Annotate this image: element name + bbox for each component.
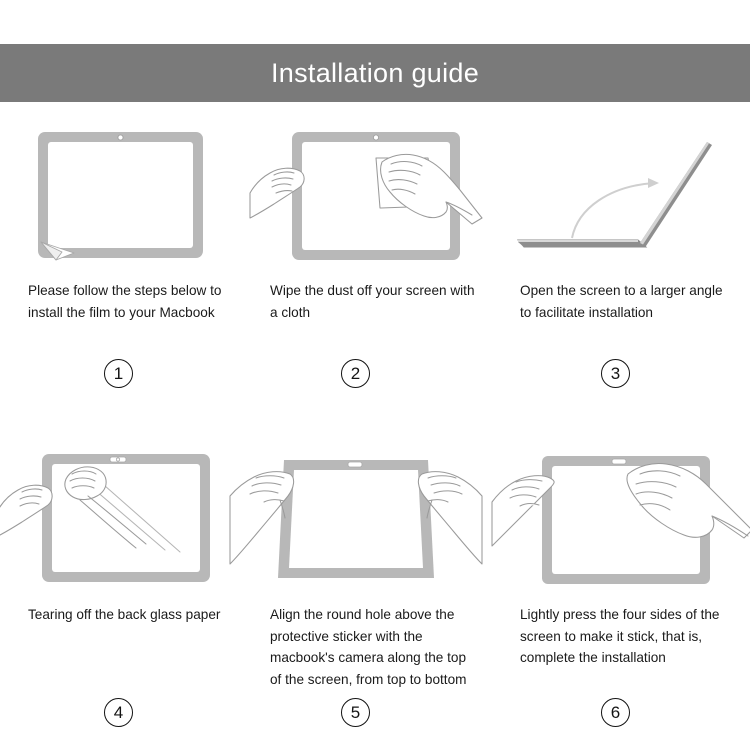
hand-wiping-screen-with-cloth-icon	[250, 132, 482, 260]
step-item-3: Open the screen to a larger angle to fac…	[500, 102, 750, 426]
step-4-number: 4	[104, 698, 133, 727]
step-1-caption: Please follow the steps below to install…	[0, 280, 250, 323]
step-1-number: 1	[104, 359, 133, 388]
hands-peeling-back-paper-icon	[0, 454, 210, 582]
step-1-illustration	[0, 120, 250, 270]
step-2-illustration	[250, 120, 500, 270]
step-item-2: Wipe the dust off your screen with a clo…	[250, 102, 500, 426]
step-3-illustration	[500, 120, 750, 270]
step-6-number: 6	[601, 698, 630, 727]
step-3-number: 3	[601, 359, 630, 388]
step-2-number: 2	[341, 359, 370, 388]
step-3-caption: Open the screen to a larger angle to fac…	[500, 280, 750, 323]
step-5-caption: Align the round hole above the protectiv…	[250, 604, 500, 690]
step-item-6: Lightly press the four sides of the scre…	[500, 426, 750, 750]
step-6-caption: Lightly press the four sides of the scre…	[500, 604, 750, 669]
step-5-illustration	[250, 444, 500, 594]
hand-pressing-screen-edges-icon	[492, 456, 750, 584]
step-4-illustration	[0, 444, 250, 594]
hands-aligning-film-icon	[230, 460, 482, 578]
page-title: Installation guide	[271, 60, 479, 87]
step-item-1: Please follow the steps below to install…	[0, 102, 250, 426]
screen-with-peeling-corner-icon	[38, 132, 203, 260]
steps-grid: Please follow the steps below to install…	[0, 102, 750, 750]
header-banner: Installation guide	[0, 44, 750, 102]
step-5-number: 5	[341, 698, 370, 727]
step-item-5: Align the round hole above the protectiv…	[250, 426, 500, 750]
step-4-caption: Tearing off the back glass paper	[0, 604, 250, 626]
step-2-caption: Wipe the dust off your screen with a clo…	[250, 280, 500, 323]
step-6-illustration	[500, 444, 750, 594]
step-item-4: Tearing off the back glass paper 4	[0, 426, 250, 750]
laptop-opening-lid-icon	[518, 142, 712, 247]
